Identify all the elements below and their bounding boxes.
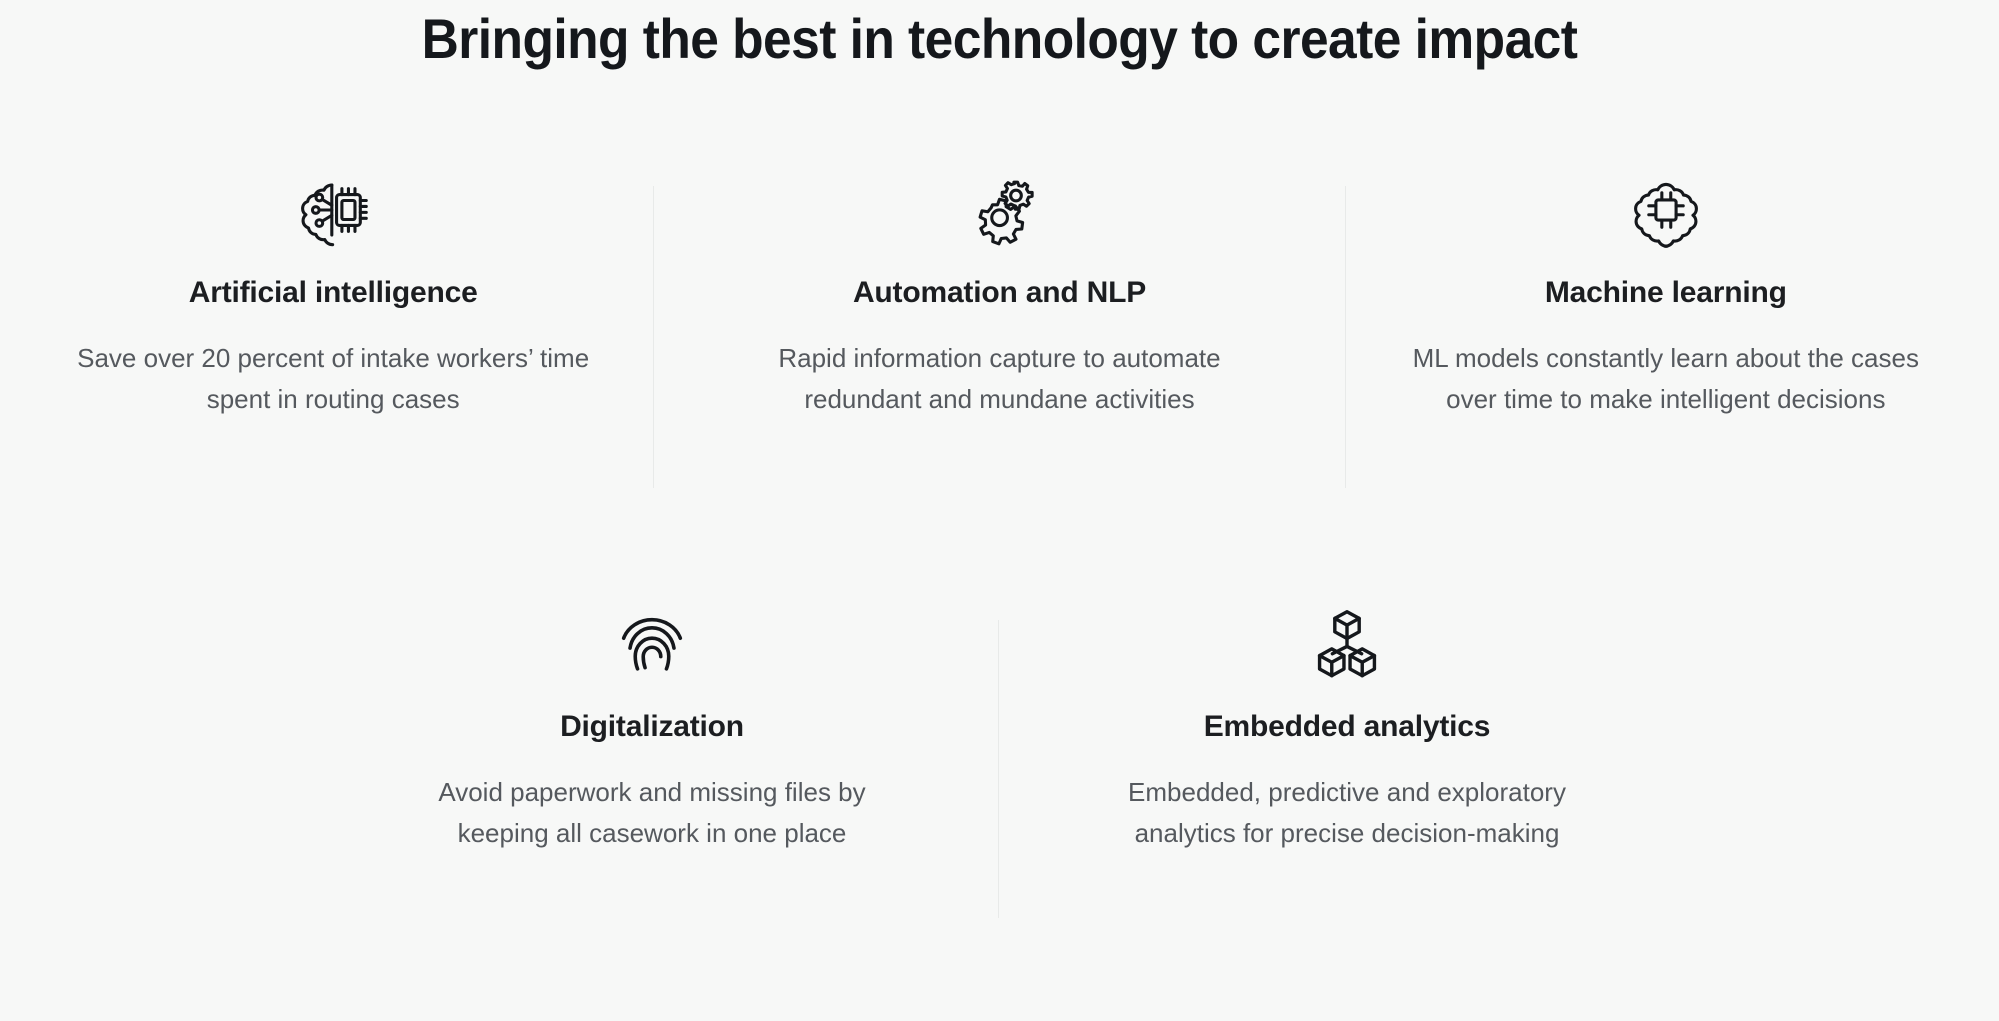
feature-row-top: Artificial intelligence Save over 20 per…	[0, 168, 1999, 420]
feature-card-machine-learning: Machine learning ML models constantly le…	[1333, 168, 1999, 420]
card-description: ML models constantly learn about the cas…	[1396, 338, 1936, 420]
feature-card-digitalization: Digitalization Avoid paperwork and missi…	[305, 602, 1000, 854]
feature-card-automation-and-nlp: Automation and NLP Rapid information cap…	[666, 168, 1332, 420]
card-title: Artificial intelligence	[189, 274, 478, 312]
card-description: Embedded, predictive and exploratory ana…	[1087, 772, 1607, 854]
page-title: Bringing the best in technology to creat…	[80, 6, 1919, 72]
brain-cpu-icon	[1624, 168, 1708, 252]
card-title: Machine learning	[1545, 274, 1787, 312]
card-description: Rapid information capture to automate re…	[729, 338, 1269, 420]
card-title: Embedded analytics	[1204, 708, 1491, 746]
card-description: Save over 20 percent of intake workers’ …	[63, 338, 603, 420]
feature-card-embedded-analytics: Embedded analytics Embedded, predictive …	[1000, 602, 1695, 854]
fingerprint-icon	[610, 602, 694, 686]
feature-grid-page: Bringing the best in technology to creat…	[0, 0, 1999, 1021]
feature-row-bottom: Digitalization Avoid paperwork and missi…	[0, 602, 1999, 854]
gears-icon	[957, 168, 1041, 252]
card-description: Avoid paperwork and missing files by kee…	[392, 772, 912, 854]
card-title: Automation and NLP	[853, 274, 1146, 312]
card-title: Digitalization	[560, 708, 744, 746]
feature-card-artificial-intelligence: Artificial intelligence Save over 20 per…	[0, 168, 666, 420]
cube-network-icon	[1305, 602, 1389, 686]
ai-brain-chip-icon	[291, 168, 375, 252]
